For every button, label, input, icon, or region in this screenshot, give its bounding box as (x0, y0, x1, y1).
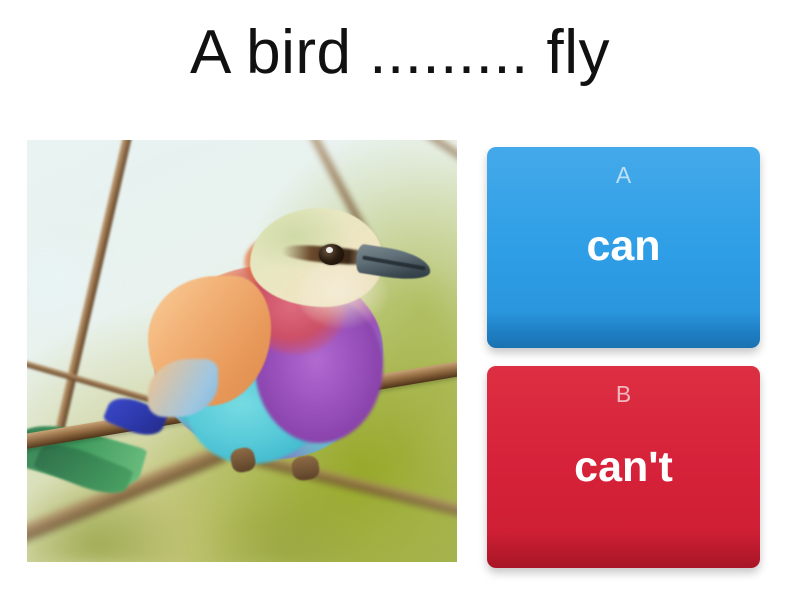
bird-eye-glint (326, 247, 333, 253)
answer-option-b[interactable]: B can't (487, 366, 760, 568)
bird-figure (143, 208, 410, 470)
answer-letter-b: B (487, 383, 760, 406)
page-title: A bird ......... fly (0, 14, 800, 92)
answer-option-a[interactable]: A can (487, 147, 760, 348)
answer-text-a: can (487, 225, 760, 268)
answer-letter-a: A (487, 164, 760, 187)
answer-text-b: can't (487, 446, 760, 489)
quiz-page: A bird ......... fly (0, 0, 800, 600)
question-image (27, 140, 457, 562)
